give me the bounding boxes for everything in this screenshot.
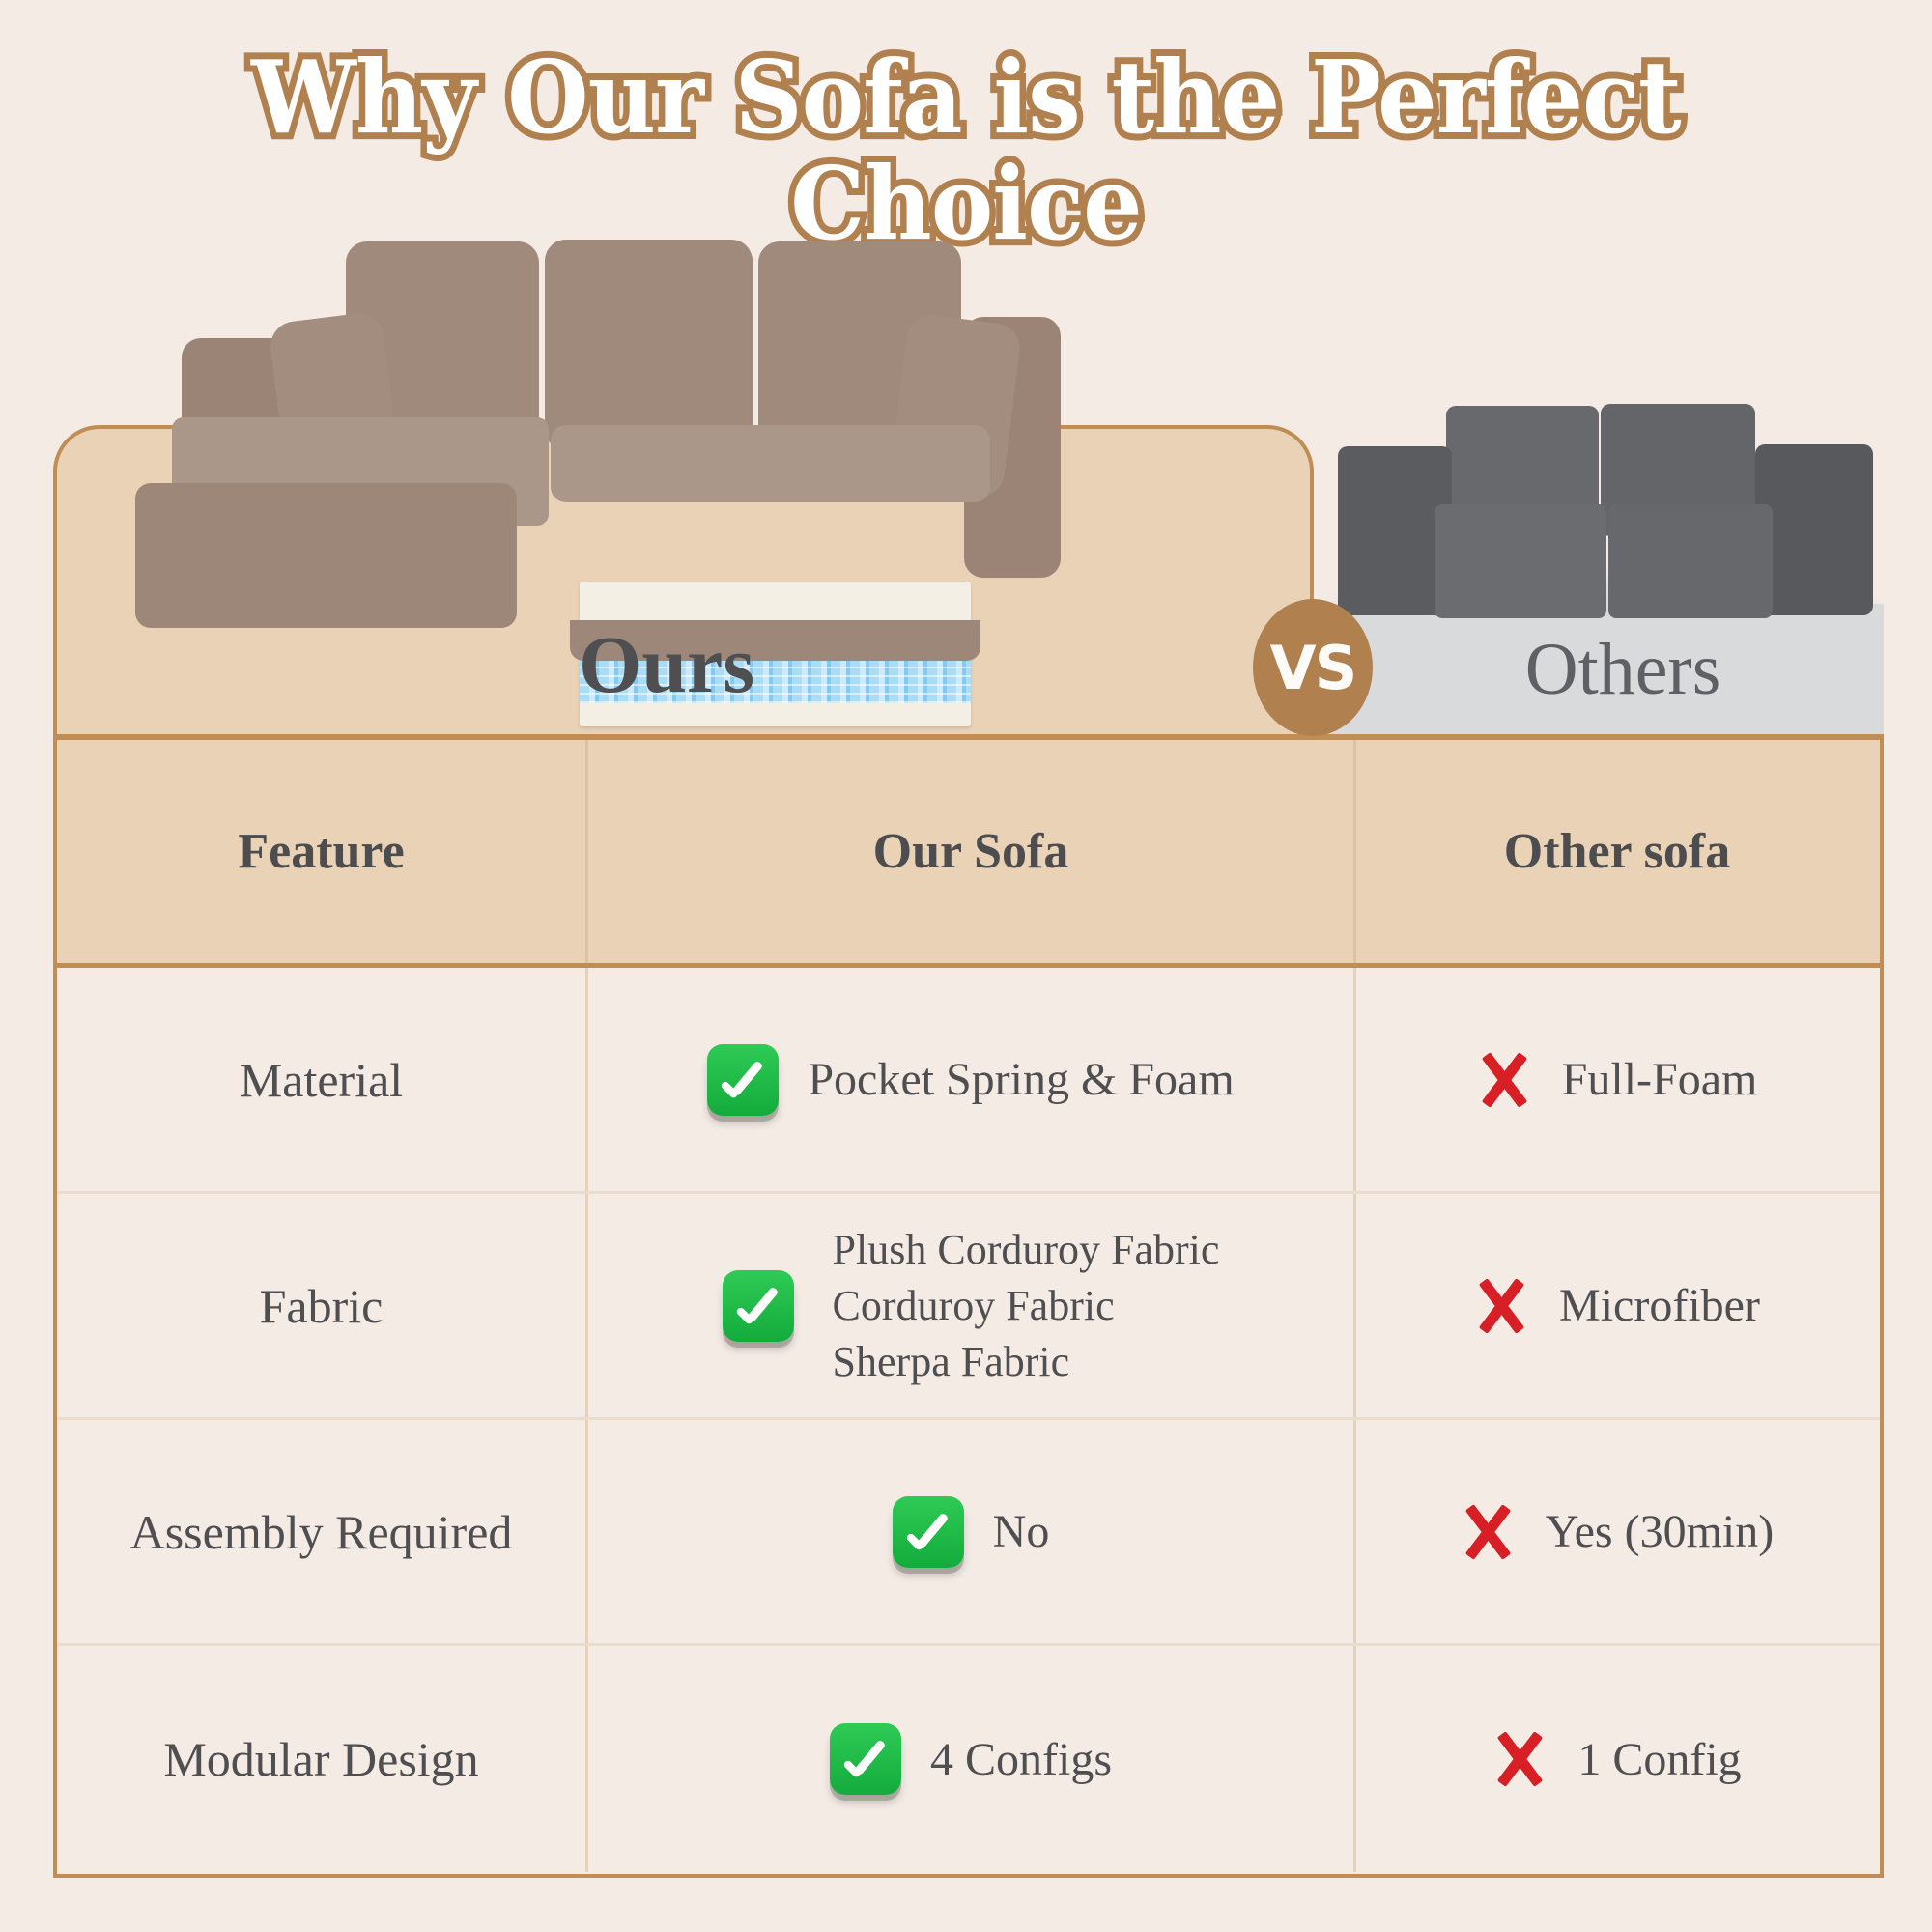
header-label-other-sofa: Other sofa: [1504, 823, 1730, 880]
table-header-row: Feature Our Sofa Other sofa: [57, 740, 1880, 968]
feature-label: Material: [240, 1052, 403, 1108]
ours-label: Ours: [464, 618, 869, 712]
our-sofa-image: [135, 241, 1207, 647]
our-sofa-value-list: Plush Corduroy Fabric Corduroy Fabric Sh…: [833, 1222, 1220, 1390]
other-sofa-value: Microfiber: [1559, 1279, 1760, 1332]
our-sofa-value-line: Sherpa Fabric: [833, 1338, 1070, 1385]
feature-label: Fabric: [260, 1278, 384, 1334]
our-sofa-value-line: Plush Corduroy Fabric: [833, 1226, 1220, 1273]
other-sofa-cell: 1 Config: [1356, 1646, 1878, 1872]
feature-cell: Modular Design: [57, 1646, 588, 1872]
other-sofa-cell: Full-Foam: [1356, 968, 1878, 1191]
our-sofa-value: Pocket Spring & Foam: [808, 1053, 1234, 1106]
others-label: Others: [1420, 628, 1826, 712]
table-row: Modular Design 4 Configs 1 Config: [57, 1646, 1880, 1872]
vs-badge: VS: [1253, 599, 1373, 736]
table-row: Material Pocket Spring & Foam Full-Foam: [57, 968, 1880, 1194]
our-sofa-value: 4 Configs: [930, 1733, 1112, 1786]
cross-icon: [1474, 1276, 1530, 1336]
comparison-stage: Ours Others VS: [0, 0, 1932, 744]
other-sofa-value: Full-Foam: [1562, 1053, 1758, 1106]
table-row: Assembly Required No Yes (30min): [57, 1420, 1880, 1646]
feature-cell: Material: [57, 968, 588, 1191]
check-icon: [893, 1496, 964, 1568]
our-sofa-cell: 4 Configs: [588, 1646, 1356, 1872]
our-sofa-cell: No: [588, 1420, 1356, 1643]
other-sofa-cell: Yes (30min): [1356, 1420, 1878, 1643]
comparison-table: Feature Our Sofa Other sofa Material Poc…: [53, 734, 1884, 1878]
other-sofa-value: 1 Config: [1577, 1733, 1741, 1786]
cross-icon: [1461, 1502, 1517, 1562]
feature-label: Modular Design: [163, 1731, 478, 1787]
feature-cell: Assembly Required: [57, 1420, 588, 1643]
check-icon: [723, 1270, 794, 1342]
our-sofa-value-line: Corduroy Fabric: [833, 1282, 1115, 1329]
our-sofa-cell: Plush Corduroy Fabric Corduroy Fabric Sh…: [588, 1194, 1356, 1417]
check-icon: [707, 1044, 779, 1116]
header-cell-our-sofa: Our Sofa: [588, 740, 1356, 963]
header-cell-feature: Feature: [57, 740, 588, 963]
header-cell-other-sofa: Other sofa: [1356, 740, 1878, 963]
header-label-feature: Feature: [238, 823, 404, 880]
other-sofa-cell: Microfiber: [1356, 1194, 1878, 1417]
cross-icon: [1492, 1729, 1548, 1789]
our-sofa-value: No: [993, 1505, 1050, 1558]
cross-icon: [1477, 1050, 1533, 1110]
table-row: Fabric Plush Corduroy Fabric Corduroy Fa…: [57, 1194, 1880, 1420]
check-icon: [830, 1723, 901, 1795]
our-sofa-cell: Pocket Spring & Foam: [588, 968, 1356, 1191]
feature-label: Assembly Required: [130, 1504, 513, 1560]
feature-cell: Fabric: [57, 1194, 588, 1417]
other-sofa-value: Yes (30min): [1546, 1505, 1774, 1558]
header-label-our-sofa: Our Sofa: [873, 823, 1069, 880]
other-sofa-image: [1338, 386, 1874, 628]
